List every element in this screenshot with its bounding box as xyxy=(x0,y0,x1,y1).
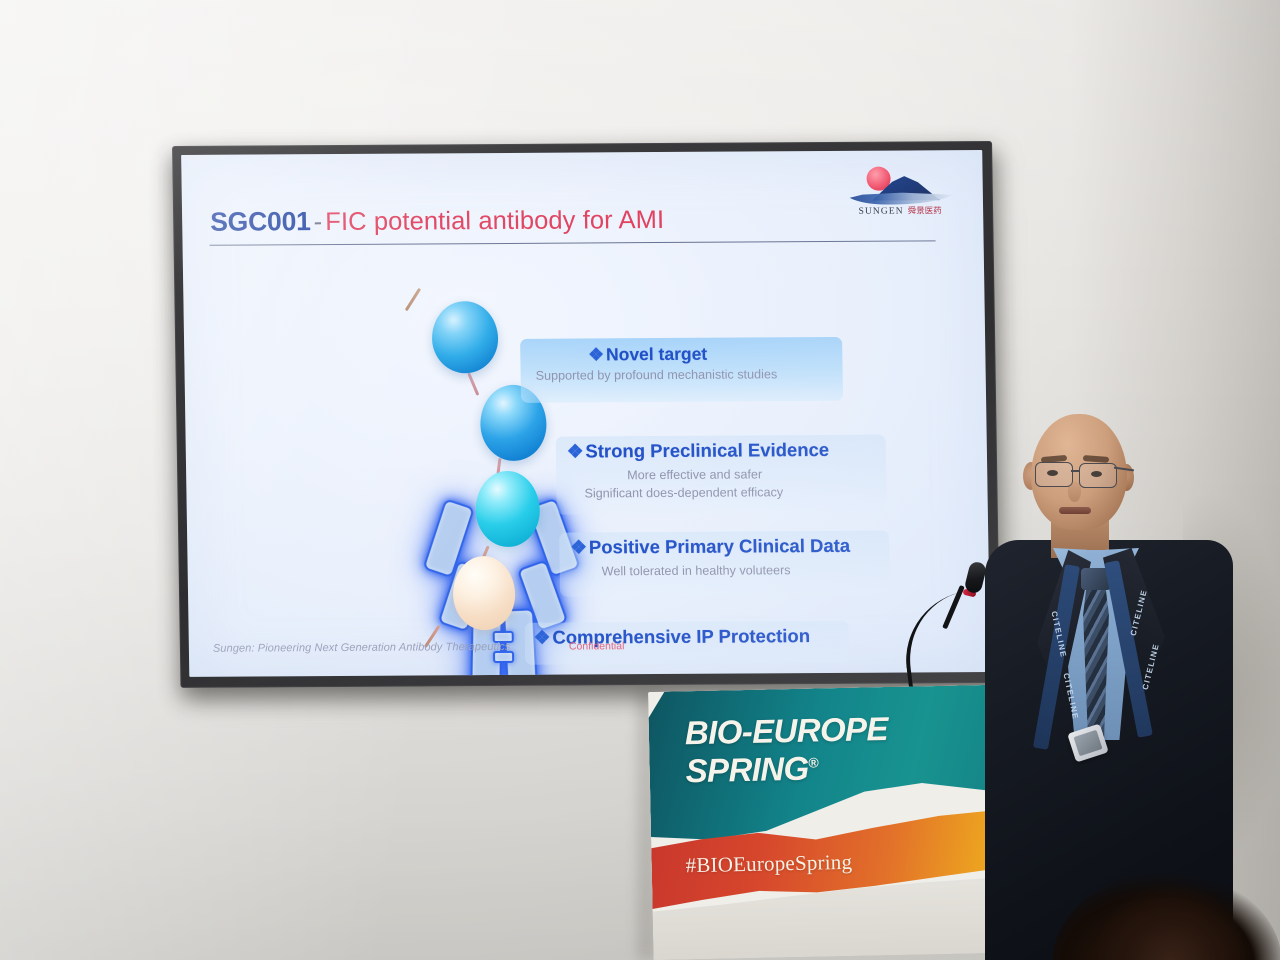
sphere-3 xyxy=(475,471,540,547)
eyeglasses-bridge xyxy=(1071,470,1080,472)
presentation-screen: SGC001-FIC potential antibody for AMI SU… xyxy=(172,141,1001,688)
sungen-logo: SUNGEN舜景医药 xyxy=(838,164,961,223)
screen-bezel: SGC001-FIC potential antibody for AMI SU… xyxy=(172,141,1001,688)
speaker-nose xyxy=(1068,482,1081,502)
presentation-photo-scene: SGC001-FIC potential antibody for AMI SU… xyxy=(0,0,1280,960)
bullet-heading-text-1: Novel target xyxy=(606,344,707,365)
event-title: BIO-EUROPE SPRING® xyxy=(685,713,889,787)
eyeglasses-lens-right xyxy=(1079,463,1117,488)
logo-wordmark: SUNGEN舜景医药 xyxy=(839,204,961,217)
bullet-sub-3-1: Well tolerated in healthy voluteers xyxy=(602,563,791,578)
page-title: SGC001-FIC potential antibody for AMI xyxy=(210,204,664,238)
bullet-marker-3: ❖ xyxy=(570,536,587,557)
screen-panel: SGC001-FIC potential antibody for AMI SU… xyxy=(181,150,990,677)
wave-icon xyxy=(845,191,955,205)
registered-mark: ® xyxy=(808,754,818,770)
speaker-mouth xyxy=(1059,507,1091,514)
badge-card xyxy=(1073,730,1102,756)
eyeglasses-lens-left xyxy=(1035,462,1073,487)
bullet-heading-1: ❖Novel target xyxy=(588,344,707,366)
bullet-heading-2: ❖Strong Preclinical Evidence xyxy=(567,439,830,463)
logo-chinese: 舜景医药 xyxy=(908,206,942,216)
bullet-heading-3: ❖Positive Primary Clinical Data xyxy=(570,535,850,559)
sphere-stick-1 xyxy=(405,288,421,312)
bullet-sub-1-1: Supported by profound mechanistic studie… xyxy=(536,367,778,382)
event-title-line1: BIO-EUROPE xyxy=(684,710,888,751)
bullet-marker-2: ❖ xyxy=(567,440,584,461)
title-divider xyxy=(210,240,936,245)
bullet-marker-1: ❖ xyxy=(588,344,604,364)
event-hashtag: #BIOEuropeSpring xyxy=(685,850,852,878)
bullet-sub-2-1: More effective and safer xyxy=(627,467,762,482)
bullet-sub-2-2: Significant does-dependent efficacy xyxy=(584,485,783,500)
slide-title-code: SGC001 xyxy=(210,206,311,237)
logo-name: SUNGEN xyxy=(858,207,903,217)
bullet-heading-text-2: Strong Preclinical Evidence xyxy=(585,439,829,461)
bullet-marker-4: ❖ xyxy=(534,627,551,648)
speaker-person: CITELINE CITELINE CITELINE CITELINE xyxy=(975,400,1255,960)
sphere-1 xyxy=(431,301,498,373)
slide: SGC001-FIC potential antibody for AMI SU… xyxy=(181,150,990,677)
sphere-4 xyxy=(452,556,515,630)
bullet-heading-text-3: Positive Primary Clinical Data xyxy=(589,535,851,558)
slide-footer-confidential: Confidential xyxy=(569,640,625,652)
event-title-line2: SPRING xyxy=(685,750,809,790)
slide-title-rest: FIC potential antibody for AMI xyxy=(325,206,664,236)
slide-title-dash: - xyxy=(313,208,322,236)
slide-footer-tagline: Sungen: Pioneering Next Generation Antib… xyxy=(213,641,511,655)
